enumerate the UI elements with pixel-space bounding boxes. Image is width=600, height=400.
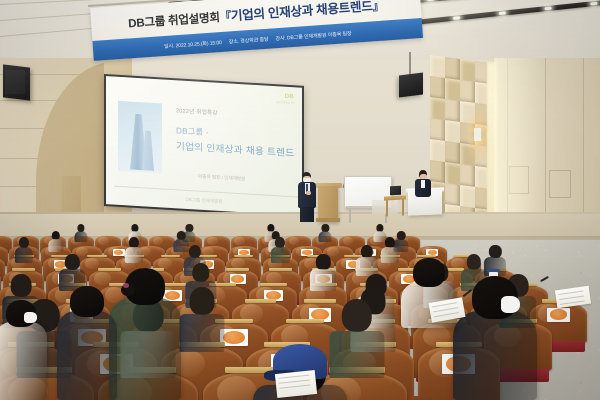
attendee-body	[453, 311, 537, 400]
projection-screen: 2022년 취업특강 DB그룹 - 기업의 인재상과 채용 트렌드 이종욱 팀장…	[104, 74, 304, 218]
tablet-arm[interactable]	[260, 283, 287, 286]
attendee-head	[11, 274, 32, 297]
attendee	[74, 223, 87, 242]
lectern-base	[316, 218, 340, 222]
banner-date: 일시. 2022.10.25.(화) 15:00	[164, 38, 222, 49]
attendee	[319, 223, 332, 242]
tablet-arm[interactable]	[12, 268, 35, 271]
attendee	[310, 253, 336, 291]
attendee	[179, 286, 224, 352]
slide-building-photo	[118, 101, 162, 174]
attendee-body	[57, 311, 118, 400]
banner-speaker: 강사. DB그룹 인재개발원 이종욱 팀장	[275, 29, 352, 41]
attendee	[271, 236, 289, 263]
face-mask	[24, 312, 36, 323]
attendee-head	[489, 245, 501, 259]
attendee-torso	[271, 247, 289, 263]
social-distancing-sticker	[547, 308, 570, 322]
note-paper	[275, 370, 317, 398]
attendee-torso	[15, 247, 33, 263]
tablet-arm[interactable]	[245, 299, 277, 303]
attendee-body	[0, 322, 47, 400]
presenter	[296, 172, 318, 222]
seat-highlight	[207, 237, 217, 245]
attendee-torso	[381, 247, 399, 263]
left-speaker-grille	[5, 70, 25, 94]
attendee-head	[70, 286, 103, 317]
attendee	[15, 236, 33, 263]
wall-sconce-icon	[474, 128, 481, 141]
social-distancing-sticker	[113, 249, 125, 256]
attendee-head	[316, 254, 330, 270]
banner-title-highlight: 기업의 인재상과 채용트렌드	[230, 0, 372, 23]
attendee-head	[342, 299, 372, 333]
attendee-head	[189, 245, 201, 259]
lectern	[318, 186, 338, 222]
face-mask	[501, 296, 521, 313]
attendee	[381, 236, 399, 263]
seat-highlight	[153, 237, 163, 245]
banner-quote-open: 『	[219, 10, 231, 24]
staff-member	[414, 170, 432, 202]
attendee-head	[65, 254, 79, 270]
monitor-icon	[390, 186, 401, 196]
seat-highlight	[289, 237, 299, 245]
banner-title-main: DB그룹 취업설명회	[128, 11, 220, 30]
attendee-torso	[179, 314, 224, 352]
attendee-torso	[125, 247, 143, 263]
seat-highlight	[217, 376, 257, 400]
banner-place: 장소. 경상학관 중당	[228, 35, 268, 45]
attendee-torso	[319, 231, 332, 242]
attendee-body	[109, 298, 182, 400]
speaker-mount-pole	[409, 52, 411, 76]
db-logo: DB	[285, 94, 294, 101]
seat-highlight	[234, 237, 244, 245]
sconce-downlight-glow	[466, 138, 490, 164]
attendee	[48, 230, 63, 252]
auditorium-seminar-photo: 2022년 취업특강 DB그룹 - 기업의 인재상과 채용 트렌드 이종욱 팀장…	[0, 0, 600, 400]
flush-wall-panel	[549, 170, 571, 198]
attendee-dark-coat	[56, 286, 118, 400]
tablet-arm[interactable]	[269, 268, 292, 271]
tablet-arm[interactable]	[226, 268, 249, 271]
attendee-left-edge	[0, 300, 48, 400]
attendee-torso	[48, 239, 63, 252]
attendee-torso	[74, 231, 87, 242]
tablet-arm[interactable]	[286, 319, 324, 323]
attendee-head	[413, 258, 444, 287]
attendee	[125, 236, 143, 263]
attendee-head	[360, 245, 372, 259]
stage-side-chairs	[372, 200, 398, 214]
seat-highlight	[98, 237, 108, 245]
right-wall-speaker-icon	[399, 73, 423, 98]
side-table	[384, 195, 406, 200]
seat-armrest	[410, 396, 431, 400]
attendee	[356, 244, 378, 276]
banner-quote-close: 』	[372, 0, 384, 13]
attendee-head	[467, 254, 481, 270]
attendee-torso	[310, 269, 336, 291]
attendee-green-jacket	[108, 268, 182, 400]
slide-line-1: DB그룹 -	[176, 124, 209, 138]
attendee-head	[189, 287, 214, 315]
attendee-head	[192, 263, 209, 282]
hair-tie	[123, 283, 129, 288]
